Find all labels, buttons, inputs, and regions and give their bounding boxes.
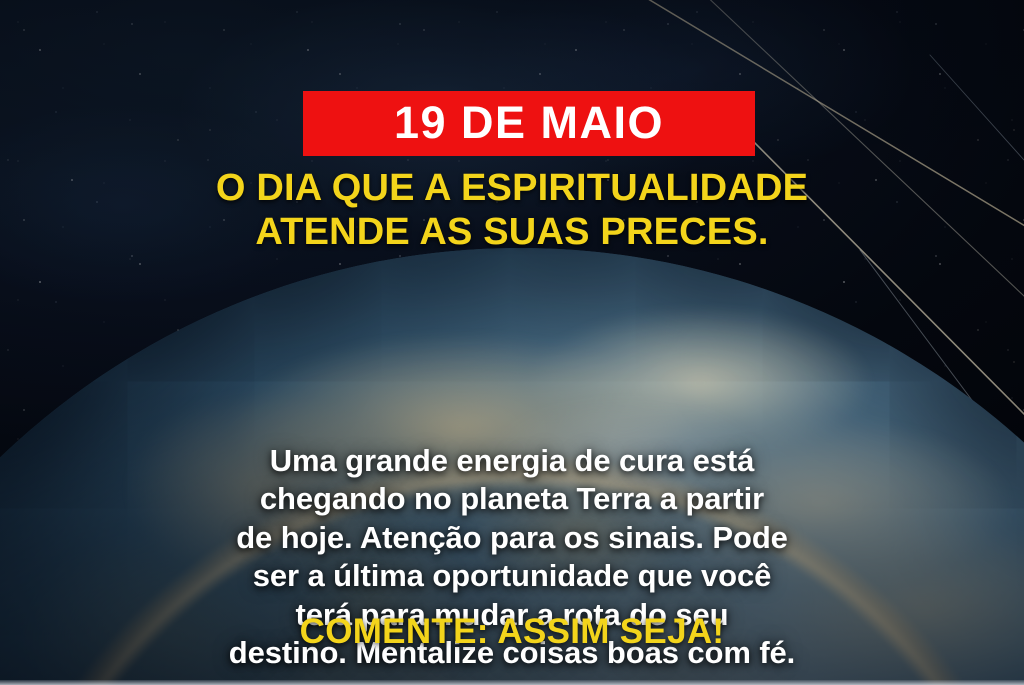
poster-canvas: 19 DE MAIO O DIA QUE A ESPIRITUALIDADE A…	[0, 0, 1024, 685]
call-to-action-text: COMENTE: ASSIM SEJA!	[0, 612, 1024, 652]
date-banner-text: 19 DE MAIO	[394, 100, 664, 145]
body-line-3: de hoje. Atenção para os sinais. Pode	[62, 519, 962, 557]
headline: O DIA QUE A ESPIRITUALIDADE ATENDE AS SU…	[0, 166, 1024, 254]
poster-content: 19 DE MAIO O DIA QUE A ESPIRITUALIDADE A…	[0, 0, 1024, 685]
headline-line-2: ATENDE AS SUAS PRECES.	[0, 210, 1024, 254]
headline-line-1: O DIA QUE A ESPIRITUALIDADE	[0, 166, 1024, 210]
bottom-edge-strip	[0, 680, 1024, 685]
body-line-4: ser a última oportunidade que você	[62, 557, 962, 595]
date-banner: 19 DE MAIO	[303, 91, 755, 156]
body-line-1: Uma grande energia de cura está	[62, 442, 962, 480]
body-line-2: chegando no planeta Terra a partir	[62, 480, 962, 518]
